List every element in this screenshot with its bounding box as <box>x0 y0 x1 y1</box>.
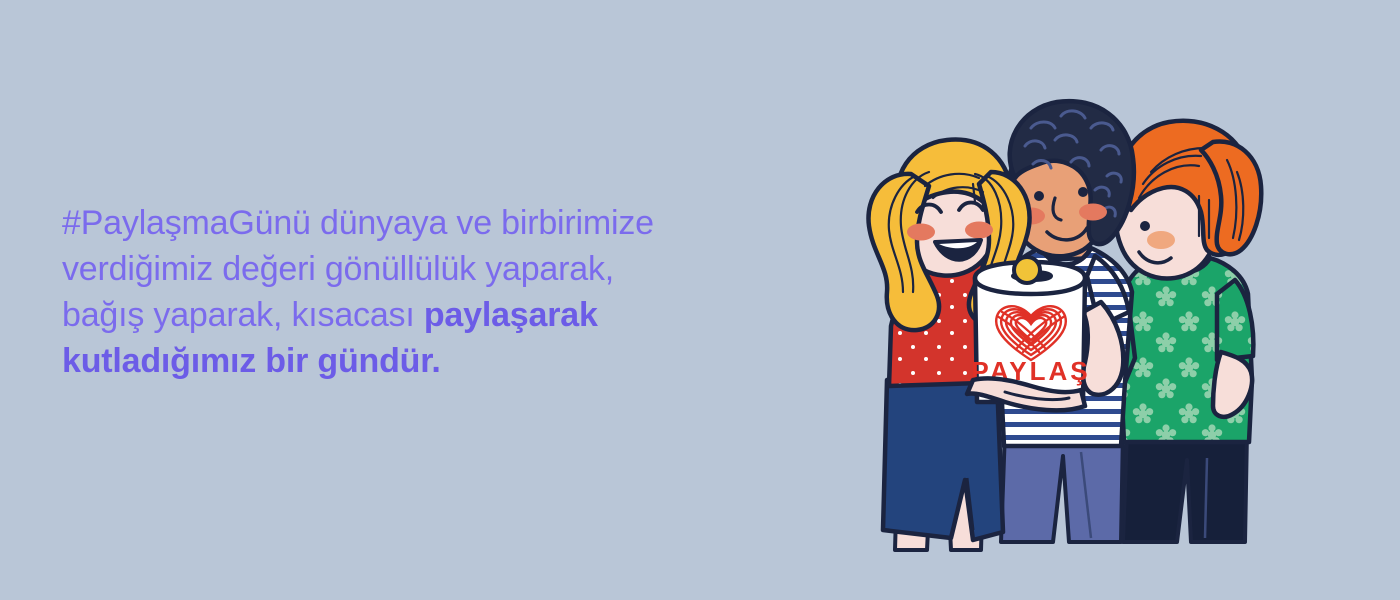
coin <box>1014 257 1040 283</box>
poster-canvas: #PaylaşmaGünü dünyaya ve birbirimize ver… <box>0 0 1400 600</box>
red-hair-cheek <box>1147 231 1175 249</box>
red-hair-trousers <box>1123 432 1247 542</box>
curly-eye-left <box>1034 191 1044 201</box>
curly-eye-right <box>1078 187 1088 197</box>
headline-line-3-regular: bağış yaparak, kısacası <box>62 296 424 334</box>
curly-cheek-right <box>1079 204 1107 221</box>
headline-line-2: verdiğimiz değeri gönüllülük yaparak, <box>62 250 614 288</box>
red-hair-eye <box>1140 221 1150 231</box>
headline-line-4-bold: kutladığımız bir gündür. <box>62 342 441 380</box>
headline-line-1: #PaylaşmaGünü dünyaya ve birbirimize <box>62 204 654 242</box>
headline-text-block: #PaylaşmaGünü dünyaya ve birbirimize ver… <box>62 200 762 384</box>
three-people-donating-illustration: PAYLAŞ <box>855 80 1335 560</box>
blonde-cheek-right <box>965 222 993 239</box>
blonde-cheek-left <box>907 224 935 241</box>
headline-line-3-bold: paylaşarak <box>424 296 598 334</box>
